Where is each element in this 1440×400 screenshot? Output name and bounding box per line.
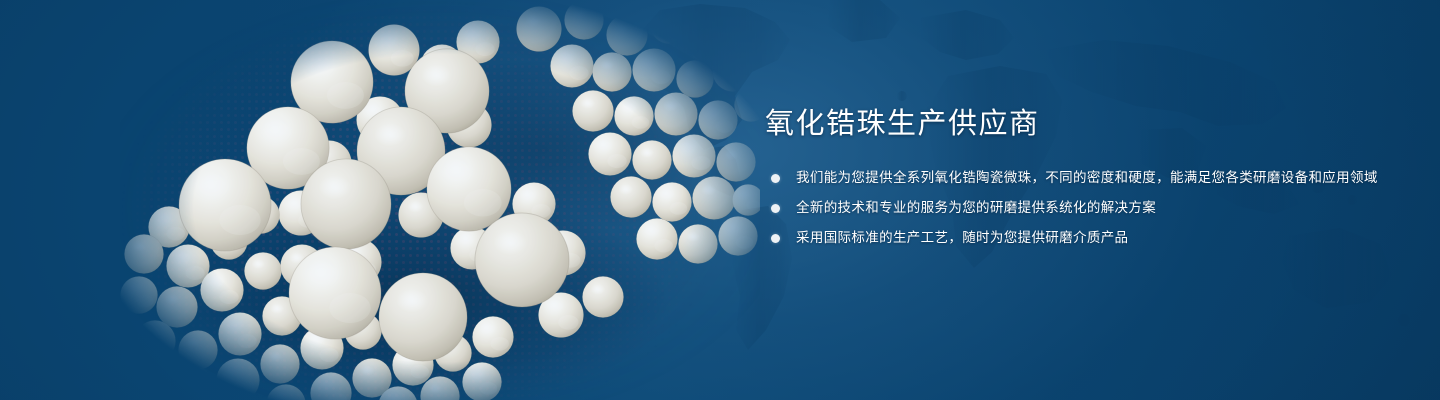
- product-photo-zirconia-beads: [120, 0, 760, 400]
- list-item-label: 全新的技术和专业的服务为您的研磨提供系统化的解决方案: [796, 198, 1385, 219]
- bullet-dot-icon: [771, 174, 780, 183]
- feature-list: 我们能为您提供全系列氧化锆陶瓷微珠，不同的密度和硬度，能满足您各类研磨设备和应用…: [765, 168, 1385, 249]
- list-item: 采用国际标准的生产工艺，随时为您提供研磨介质产品: [765, 228, 1385, 249]
- list-item-label: 我们能为您提供全系列氧化锆陶瓷微珠，不同的密度和硬度，能满足您各类研磨设备和应用…: [796, 168, 1385, 189]
- list-item-label: 采用国际标准的生产工艺，随时为您提供研磨介质产品: [796, 228, 1385, 249]
- list-item: 我们能为您提供全系列氧化锆陶瓷微珠，不同的密度和硬度，能满足您各类研磨设备和应用…: [765, 168, 1385, 189]
- page-title: 氧化锆珠生产供应商: [765, 104, 1385, 142]
- list-item: 全新的技术和专业的服务为您的研磨提供系统化的解决方案: [765, 198, 1385, 219]
- bullet-dot-icon: [771, 234, 780, 243]
- bullet-dot-icon: [771, 204, 780, 213]
- hero-banner: 氧化锆珠生产供应商 我们能为您提供全系列氧化锆陶瓷微珠，不同的密度和硬度，能满足…: [0, 0, 1440, 400]
- banner-copy: 氧化锆珠生产供应商 我们能为您提供全系列氧化锆陶瓷微珠，不同的密度和硬度，能满足…: [765, 104, 1385, 249]
